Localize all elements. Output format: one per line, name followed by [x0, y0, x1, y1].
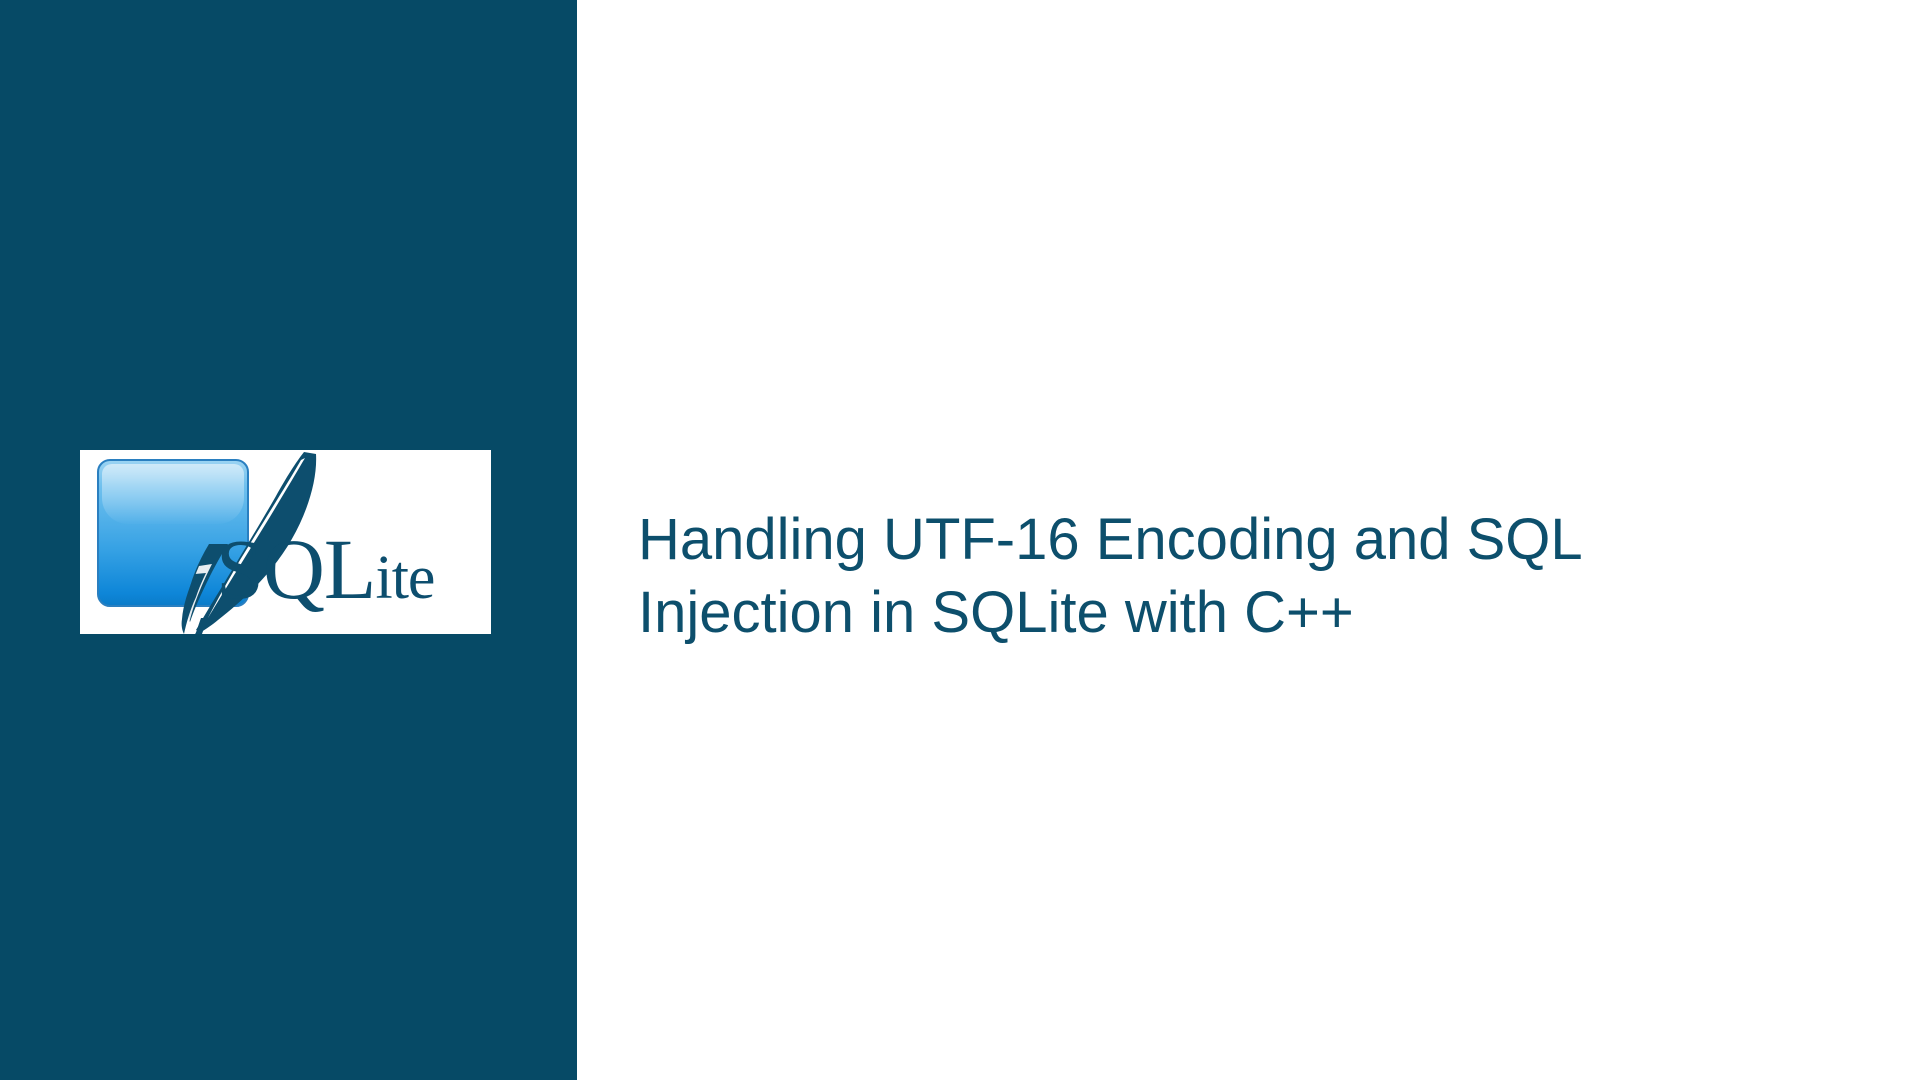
sqlite-wordmark-caps: SQL: [216, 521, 375, 617]
sqlite-wordmark-lower: ite: [375, 544, 434, 612]
presentation-slide: SQLite Handling UTF-16 Encoding and SQL …: [0, 0, 1920, 1080]
sqlite-logo-inner: SQLite: [80, 450, 491, 634]
slide-title: Handling UTF-16 Encoding and SQL Injecti…: [638, 503, 1818, 649]
slide-title-line-1: Handling UTF-16 Encoding and SQL: [638, 503, 1818, 576]
sqlite-logo: SQLite: [80, 450, 491, 634]
sqlite-wordmark: SQLite: [216, 526, 434, 612]
slide-title-line-2: Injection in SQLite with C++: [638, 576, 1818, 649]
